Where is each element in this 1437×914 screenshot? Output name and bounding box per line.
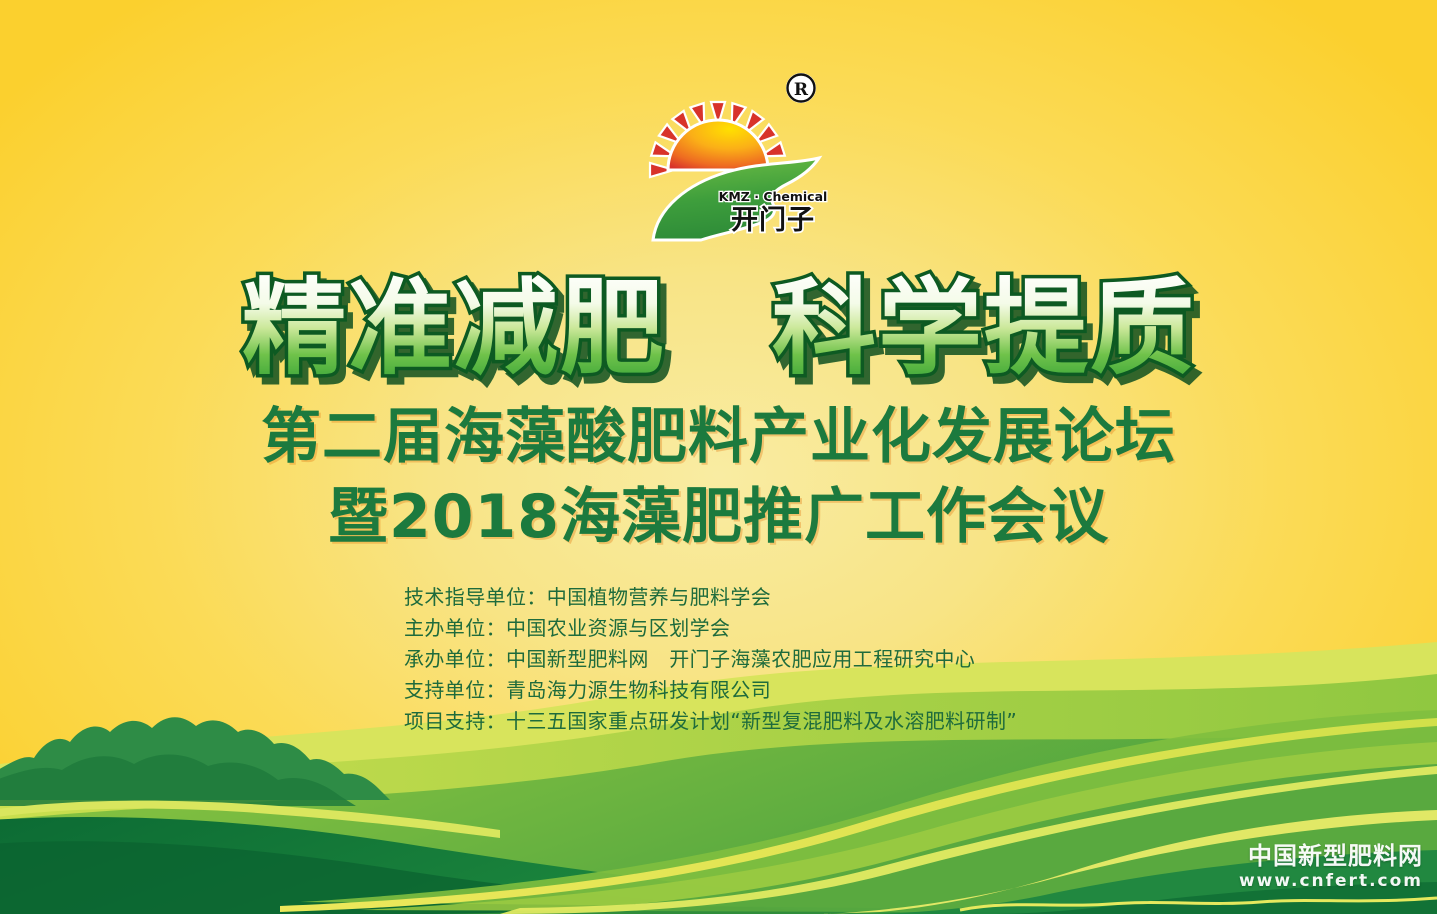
headline-slogan: 精准减肥 科学提质 — [0, 262, 1437, 394]
site-watermark: 中国新型肥料网 www.cnfert.com — [1239, 842, 1423, 892]
watermark-site-name: 中国新型肥料网 — [1239, 842, 1423, 870]
detail-row-project-support: 项目支持：十三五国家重点研发计划“新型复混肥料及水溶肥料研制” — [404, 706, 1224, 737]
company-logo: R KMZ · Chemical 开门子 — [623, 58, 838, 253]
detail-row-organizer: 承办单位：中国新型肥料网 开门子海藻农肥应用工程研究中心 — [404, 644, 1224, 675]
registered-mark-icon: R — [786, 73, 816, 103]
logo-brand-cn: 开门子 — [731, 205, 815, 236]
detail-row-host: 主办单位：中国农业资源与区划学会 — [404, 613, 1224, 644]
detail-row-supporter: 支持单位：青岛海力源生物科技有限公司 — [404, 675, 1224, 706]
watermark-url: www.cnfert.com — [1239, 870, 1423, 892]
headline-text: 精准减肥 科学提质 — [241, 267, 1195, 389]
organizer-details: 技术指导单位：中国植物营养与肥料学会 主办单位：中国农业资源与区划学会 承办单位… — [404, 582, 1224, 737]
conference-title-line-1: 第二届海藻酸肥料产业化发展论坛 — [0, 404, 1437, 470]
logo-brand-en: KMZ · Chemical — [719, 189, 828, 204]
svg-text:R: R — [794, 80, 809, 100]
conference-banner: R KMZ · Chemical 开门子 精准减肥 科学提质 — [0, 0, 1437, 914]
detail-row-technical-guidance: 技术指导单位：中国植物营养与肥料学会 — [404, 582, 1224, 613]
conference-title-line-2: 暨2018海藻肥推广工作会议 — [0, 484, 1437, 550]
